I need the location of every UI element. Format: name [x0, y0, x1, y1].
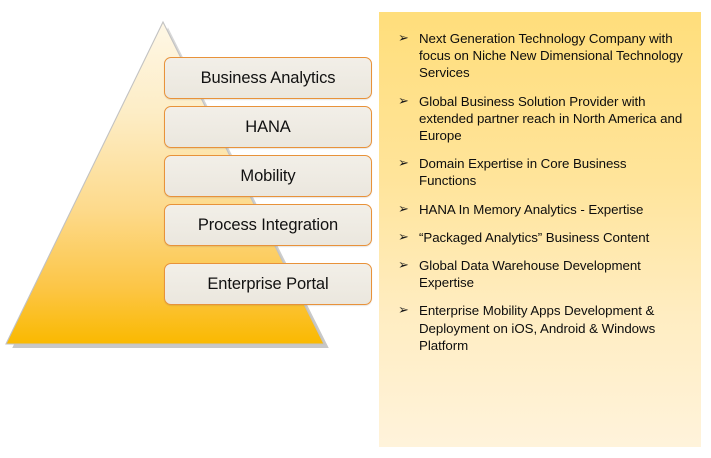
pyramid-layer-mobility[interactable]: Mobility: [164, 155, 372, 197]
arrowhead-bullet-icon: ➢: [398, 301, 409, 319]
list-item-text: Next Generation Technology Company with …: [419, 31, 683, 80]
pyramid-layer-business-analytics[interactable]: Business Analytics: [164, 57, 372, 99]
list-item-text: Domain Expertise in Core Business Functi…: [419, 156, 627, 188]
arrowhead-bullet-icon: ➢: [398, 200, 409, 218]
pyramid-layer-label: Process Integration: [198, 217, 338, 234]
list-item: ➢ “Packaged Analytics” Business Content: [389, 229, 685, 246]
list-item-text: Global Data Warehouse Development Expert…: [419, 258, 641, 290]
slide-canvas: Business Analytics HANA Mobility Process…: [0, 0, 711, 458]
pyramid-layer-hana[interactable]: HANA: [164, 106, 372, 148]
pyramid-layer-enterprise-portal[interactable]: Enterprise Portal: [164, 263, 372, 305]
list-item: ➢ Domain Expertise in Core Business Func…: [389, 155, 685, 189]
list-item: ➢ HANA In Memory Analytics - Expertise: [389, 201, 685, 218]
list-item-text: “Packaged Analytics” Business Content: [419, 230, 649, 245]
list-item: ➢ Next Generation Technology Company wit…: [389, 30, 685, 82]
arrowhead-bullet-icon: ➢: [398, 154, 409, 172]
arrowhead-bullet-icon: ➢: [398, 256, 409, 274]
list-item: ➢ Global Business Solution Provider with…: [389, 93, 685, 145]
pyramid-layer-process-integration[interactable]: Process Integration: [164, 204, 372, 246]
list-item-text: Enterprise Mobility Apps Development & D…: [419, 303, 655, 352]
list-item: ➢ Global Data Warehouse Development Expe…: [389, 257, 685, 291]
pyramid-layer-label: Enterprise Portal: [207, 276, 328, 293]
arrowhead-bullet-icon: ➢: [398, 92, 409, 110]
arrowhead-bullet-icon: ➢: [398, 228, 409, 246]
highlights-list: ➢ Next Generation Technology Company wit…: [389, 30, 685, 354]
pyramid-layer-stack: Business Analytics HANA Mobility Process…: [164, 57, 372, 307]
list-item-text: Global Business Solution Provider with e…: [419, 94, 682, 143]
pyramid-layer-label: Mobility: [240, 168, 295, 185]
arrowhead-bullet-icon: ➢: [398, 29, 409, 47]
pyramid-layer-label: Business Analytics: [201, 70, 336, 87]
highlights-panel: ➢ Next Generation Technology Company wit…: [379, 12, 701, 447]
list-item-text: HANA In Memory Analytics - Expertise: [419, 202, 643, 217]
pyramid-layer-label: HANA: [245, 119, 290, 136]
list-item: ➢ Enterprise Mobility Apps Development &…: [389, 302, 685, 354]
